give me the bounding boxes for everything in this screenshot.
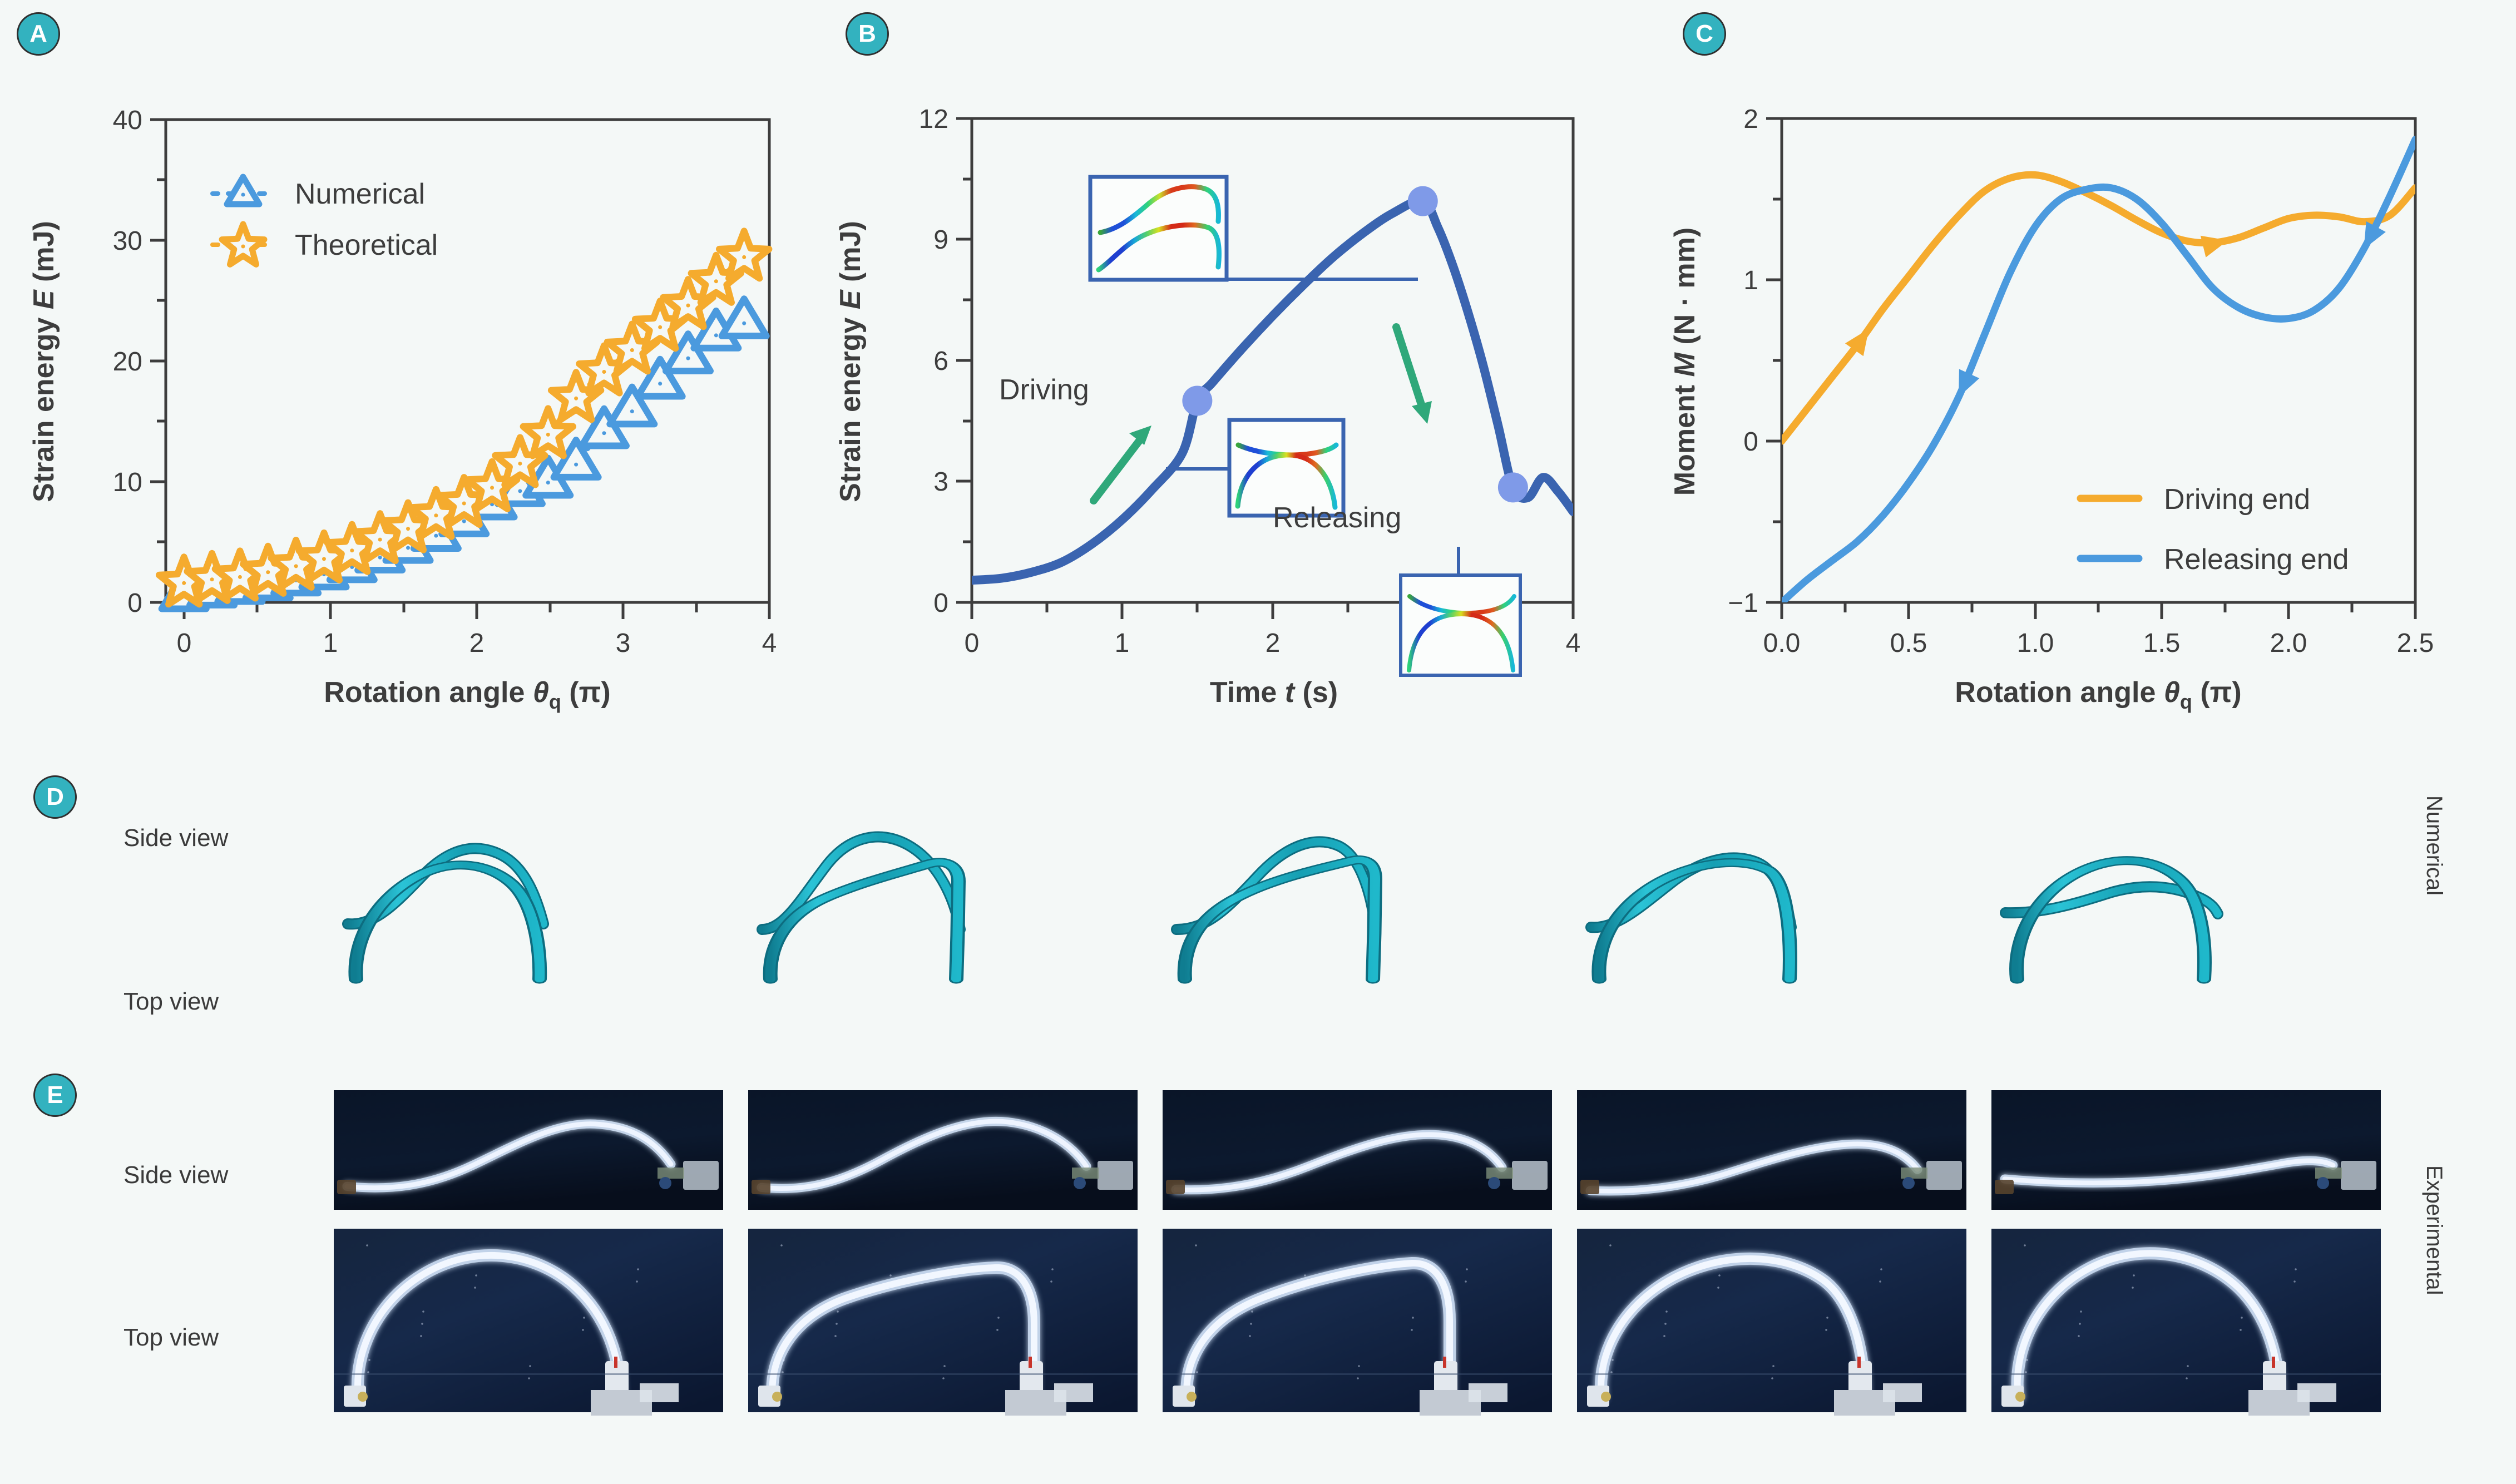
panel-b-inset-1 xyxy=(1090,177,1227,280)
panel-a-legend-label-0: Numerical xyxy=(295,178,425,210)
experimental-top-photo-3 xyxy=(1163,1229,1552,1416)
experimental-side-photo-5 xyxy=(1991,1090,2381,1210)
panel-c-series-group xyxy=(1782,140,2415,602)
panel-d-group-label: Numerical xyxy=(2421,795,2446,896)
panel-b-annotation-driving: Driving xyxy=(999,374,1089,406)
experimental-side-photo-2 xyxy=(748,1090,1138,1210)
panel-e-side-row xyxy=(334,1090,2381,1210)
experimental-side-photo-1 xyxy=(334,1090,723,1210)
panel-b-xtick-2: 2 xyxy=(1266,629,1281,658)
panel-c-legend-label-0: Driving end xyxy=(2164,483,2310,516)
panel-b-xlabel: Time t (s) xyxy=(1210,676,1338,709)
panel-c-legend: Driving end Releasing end xyxy=(2080,483,2349,576)
numerical-top-frame-3 xyxy=(1185,860,1375,979)
experimental-side-photo-3 xyxy=(1163,1090,1552,1210)
panel-b-chart: 0 3 6 9 12 0 1 2 3 4 Time t (s) Strain e… xyxy=(807,0,1641,745)
panel-c-xlabel: Rotation angle θq (π) xyxy=(1955,676,2241,713)
panel-a-xtick-3: 3 xyxy=(616,629,631,658)
panel-a-ytick-2: 20 xyxy=(113,347,142,377)
panel-badge-e: E xyxy=(33,1074,77,1117)
panel-b-xtick-1: 1 xyxy=(1115,629,1130,658)
experimental-top-photo-4 xyxy=(1577,1229,1966,1416)
panel-badge-e-letter: E xyxy=(47,1083,63,1107)
panel-c-ytick-2: 1 xyxy=(1743,266,1758,295)
panel-c-xtick-5: 2.5 xyxy=(2397,629,2434,658)
panel-a-xtick-2: 2 xyxy=(469,629,485,658)
panel-c-xtick-1: 0.5 xyxy=(1890,629,1927,658)
panel-b-xtick-4: 4 xyxy=(1566,629,1581,658)
panel-b-arrow-releasing xyxy=(1396,327,1432,424)
panel-d-row-label-side: Side view xyxy=(123,824,228,852)
panel-a-legend-label-1: Theoretical xyxy=(295,229,438,261)
panel-c-ytick-3: 2 xyxy=(1743,105,1758,134)
panel-b-ytick-1: 3 xyxy=(933,467,948,497)
panel-a-ylabel: Strain energy E (mJ) xyxy=(28,221,60,502)
panel-b-arrow-driving xyxy=(1094,426,1151,501)
panel-c-legend-label-1: Releasing end xyxy=(2164,543,2349,576)
panel-a-ytick-3: 30 xyxy=(113,226,142,256)
panel-e-row-label-top: Top view xyxy=(123,1324,219,1352)
panel-b-ytick-3: 9 xyxy=(933,225,948,255)
panel-c-xtick-3: 1.5 xyxy=(2143,629,2181,658)
panel-c-xtick-4: 2.0 xyxy=(2270,629,2307,658)
panel-b-inset-3 xyxy=(1401,575,1520,675)
panel-b-ytick-2: 6 xyxy=(933,347,948,376)
panel-b-annotation-releasing: Releasing xyxy=(1273,502,1401,534)
panel-a-ytick-0: 0 xyxy=(127,588,142,618)
panel-c-ytick-0: −1 xyxy=(1728,588,1758,618)
experimental-top-photo-1 xyxy=(334,1229,723,1416)
panel-e-top-row xyxy=(334,1229,2381,1416)
panel-e-experimental-frames xyxy=(334,1090,2392,1480)
numerical-top-frame-5 xyxy=(2016,860,2204,979)
panel-a-legend: Numerical Theoretical xyxy=(212,177,438,264)
panel-d-row-label-top: Top view xyxy=(123,988,219,1016)
panel-a-series-group xyxy=(159,231,769,609)
experimental-top-photo-2 xyxy=(748,1229,1138,1416)
panel-a-xlabel: Rotation angle θq (π) xyxy=(324,676,610,713)
experimental-side-photo-4 xyxy=(1577,1090,1966,1210)
panel-c-ytick-1: 0 xyxy=(1743,427,1758,457)
panel-b-ytick-0: 0 xyxy=(933,588,948,618)
panel-a-ytick-4: 40 xyxy=(113,106,142,135)
panel-c-xtick-2: 1.0 xyxy=(2017,629,2054,658)
panel-c-xtick-0: 0.0 xyxy=(1763,629,1801,658)
panel-b-ytick-4: 12 xyxy=(919,105,948,134)
experimental-top-photo-5 xyxy=(1991,1229,2381,1416)
panel-a-xtick-4: 4 xyxy=(762,629,777,658)
figure-root: A 0 10 20 30 40 0 1 2 3 xyxy=(0,0,2516,1484)
panel-a-ytick-1: 10 xyxy=(113,468,142,497)
panel-c-chart: −1 0 1 2 0.0 0.5 1.0 1.5 2.0 2.5 Rotatio… xyxy=(1641,0,2516,745)
panel-a-xtick-0: 0 xyxy=(177,629,192,658)
panel-badge-d: D xyxy=(33,775,77,819)
panel-d-top-row xyxy=(355,860,2204,979)
panel-badge-d-letter: D xyxy=(46,785,64,809)
panel-e-row-label-side: Side view xyxy=(123,1161,228,1189)
numerical-top-frame-1 xyxy=(355,865,540,979)
panel-c-ylabel: Moment M (N · mm) xyxy=(1669,227,1701,496)
numerical-top-frame-2 xyxy=(770,862,958,979)
panel-b-xtick-0: 0 xyxy=(965,629,980,658)
panel-d-simulation-frames xyxy=(334,768,2392,1079)
panel-a-xtick-1: 1 xyxy=(323,629,338,658)
panel-e-group-label: Experimental xyxy=(2421,1165,2446,1295)
panel-b-ylabel: Strain energy E (mJ) xyxy=(834,221,867,502)
panel-a-chart: 0 10 20 30 40 0 1 2 3 4 Rotation angle θ… xyxy=(0,0,834,745)
